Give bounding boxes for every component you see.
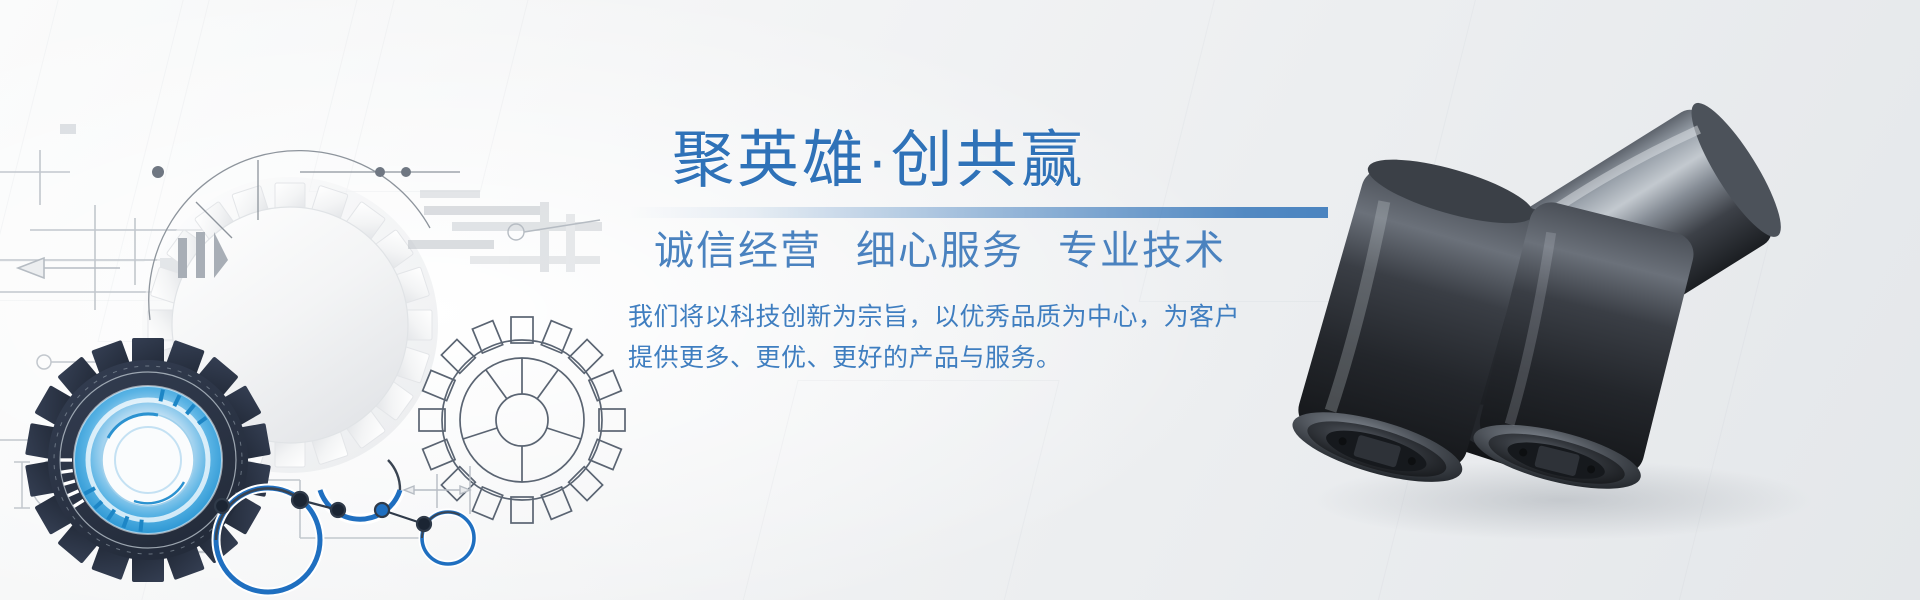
- dimension-bracket: [404, 466, 470, 514]
- body-paragraph: 我们将以科技创新为宗旨，以优秀品质为中心，为客户提供更多、更优、更好的产品与服务…: [628, 297, 1288, 378]
- body-line-1: 我们将以科技创新为宗旨，以优秀品质为中心，为客户: [628, 297, 1288, 338]
- banner-copy: 聚英雄·创共赢 诚信经营细心服务专业技术 我们将以科技创新为宗旨，以优秀品质为中…: [628, 128, 1328, 378]
- gears-tech-illustration: [0, 110, 700, 600]
- body-line-2: 提供更多、更优、更好的产品与服务。: [628, 338, 1288, 379]
- dark-navy-gear: [25, 338, 271, 582]
- outlined-spoke-gear: [419, 317, 625, 523]
- grey-bar-cluster: [408, 190, 602, 272]
- subtitle-phrase-2: 细心服务: [856, 229, 1024, 273]
- conveyor-roller-product-photo: [1262, 70, 1902, 540]
- subtitle-phrase-3: 专业技术: [1058, 229, 1226, 273]
- subtitle-phrase-1: 诚信经营: [654, 229, 822, 273]
- subtitle: 诚信经营细心服务专业技术: [654, 228, 1328, 275]
- arrow-marker: [18, 258, 120, 278]
- page-title: 聚英雄·创共赢: [672, 128, 1328, 193]
- title-underline-bar: [628, 207, 1328, 218]
- hero-banner: 聚英雄·创共赢 诚信经营细心服务专业技术 我们将以科技创新为宗旨，以优秀品质为中…: [0, 0, 1920, 600]
